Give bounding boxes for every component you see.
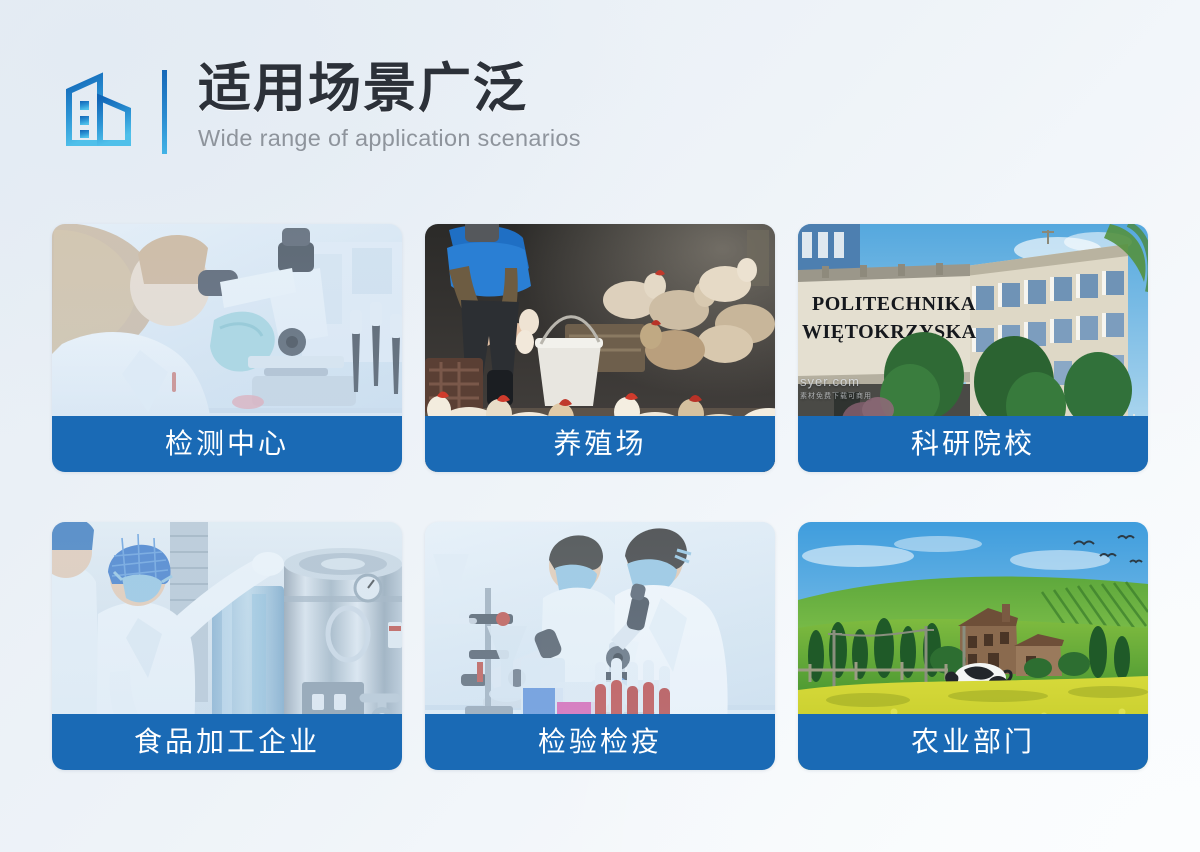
page-title: 适用场景广泛: [198, 62, 581, 116]
card-label-text: 养殖场: [553, 430, 646, 458]
building-icon: [62, 68, 138, 148]
card-label-text: 检验检疫: [538, 728, 662, 756]
card-label-text: 食品加工企业: [134, 728, 320, 756]
scenario-card-food-processing[interactable]: 食品加工企业: [52, 522, 402, 770]
card-label-bar: 养殖场: [425, 416, 775, 472]
header-accent-divider: [162, 70, 167, 154]
scenario-card-testing-center[interactable]: 检测中心: [52, 224, 402, 472]
card-label-text: 农业部门: [911, 728, 1035, 756]
card-label-bar: 农业部门: [798, 714, 1148, 770]
scenario-card-inspection-quarantine[interactable]: 检验检疫: [425, 522, 775, 770]
scenario-card-breeding-farm[interactable]: 养殖场: [425, 224, 775, 472]
page-subtitle: Wide range of application scenarios: [198, 125, 581, 152]
card-label-bar: 检测中心: [52, 416, 402, 472]
page-header: 适用场景广泛 Wide range of application scenari…: [0, 0, 1200, 200]
card-label-bar: 食品加工企业: [52, 714, 402, 770]
header-inner: 适用场景广泛 Wide range of application scenari…: [62, 62, 581, 154]
scenario-card-grid: 检测中心: [52, 224, 1148, 770]
scenario-card-research-institute[interactable]: POLITECHNIKA WIĘTOKRZYSKA: [798, 224, 1148, 472]
card-label-text: 科研院校: [911, 430, 1035, 458]
scenario-card-agriculture[interactable]: 农业部门: [798, 522, 1148, 770]
card-label-bar: 科研院校: [798, 416, 1148, 472]
card-label-text: 检测中心: [165, 430, 289, 458]
card-label-bar: 检验检疫: [425, 714, 775, 770]
header-text-block: 适用场景广泛 Wide range of application scenari…: [198, 62, 581, 152]
